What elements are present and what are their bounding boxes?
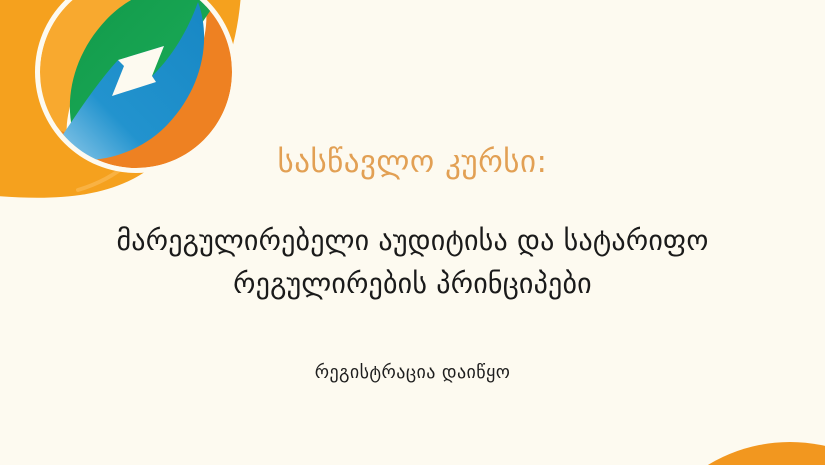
slide-text-block: სასწავლო კურსი: მარეგულირებელი აუდიტისა … [0,0,825,465]
course-title-line-2: რეგულირების პრინციპები [0,262,825,305]
course-announcement-slide: სასწავლო კურსი: მარეგულირებელი აუდიტისა … [0,0,825,465]
course-title-line-1: მარეგულირებელი აუდიტისა და სატარიფო [0,219,825,262]
page-title: მარეგულირებელი აუდიტისა და სატარიფო რეგუ… [0,219,825,305]
course-label: სასწავლო კურსი: [0,143,825,181]
registration-status-text: რეგისტრაცია დაიწყო [0,360,825,386]
